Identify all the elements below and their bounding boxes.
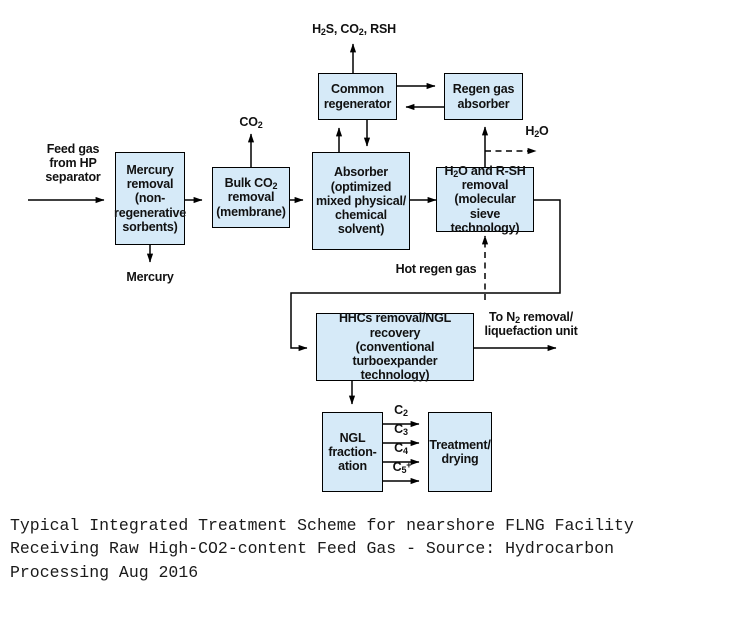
- caption-line-3: Processing Aug 2016: [10, 561, 736, 584]
- caption-line-1: Typical Integrated Treatment Scheme for …: [10, 514, 736, 537]
- label-c2-cut: C2: [389, 403, 413, 417]
- label-co2-vent: CO2: [231, 115, 271, 129]
- box-ngl-fractionation-label: NGLfraction-ation: [326, 431, 378, 474]
- label-c5plus-cut: C5+: [387, 460, 417, 474]
- label-c4-cut: C4: [389, 441, 413, 455]
- box-h2o-rsh-removal[interactable]: H2O and R-SHremoval (molecularsieve tech…: [436, 167, 534, 232]
- box-regen-gas-absorber[interactable]: Regen gasabsorber: [444, 73, 523, 120]
- label-feed-gas: Feed gasfrom HPseparator: [36, 142, 110, 184]
- label-to-n2-removal: To N2 removal/liquefaction unit: [478, 310, 584, 338]
- process-flow-diagram: Mercuryremoval(non-regenerativesorbents)…: [0, 0, 746, 505]
- label-hot-regen-gas: Hot regen gas: [390, 262, 482, 276]
- label-acid-gas-vent: H2S, CO2, RSH: [306, 22, 402, 36]
- box-common-regenerator-label: Commonregenerator: [322, 82, 393, 111]
- label-c3-cut: C3: [389, 422, 413, 436]
- box-mercury-removal-label: Mercuryremoval(non-regenerativesorbents): [112, 163, 188, 234]
- box-h2o-rsh-removal-label: H2O and R-SHremoval (molecularsieve tech…: [437, 164, 533, 235]
- box-ngl-fractionation[interactable]: NGLfraction-ation: [322, 412, 383, 492]
- box-hhcs-removal-label: HHCs removal/NGL recovery(conventional t…: [317, 311, 473, 382]
- box-hhcs-removal[interactable]: HHCs removal/NGL recovery(conventional t…: [316, 313, 474, 381]
- box-bulk-co2-removal[interactable]: Bulk CO2removal(membrane): [212, 167, 290, 228]
- label-water-vent: H2O: [518, 124, 556, 138]
- box-treatment-drying-label: Treatment/drying: [427, 438, 492, 467]
- caption-line-2: Receiving Raw High-CO2-content Feed Gas …: [10, 537, 736, 560]
- box-mercury-removal[interactable]: Mercuryremoval(non-regenerativesorbents): [115, 152, 185, 245]
- box-treatment-drying[interactable]: Treatment/drying: [428, 412, 492, 492]
- box-absorber-label: Absorber(optimizedmixed physical/chemica…: [314, 165, 408, 236]
- box-common-regenerator[interactable]: Commonregenerator: [318, 73, 397, 120]
- figure-caption: Typical Integrated Treatment Scheme for …: [10, 514, 736, 584]
- box-absorber[interactable]: Absorber(optimizedmixed physical/chemica…: [312, 152, 410, 250]
- label-mercury-outlet: Mercury: [118, 270, 182, 284]
- box-bulk-co2-removal-label: Bulk CO2removal(membrane): [214, 176, 288, 219]
- box-regen-gas-absorber-label: Regen gasabsorber: [451, 82, 516, 111]
